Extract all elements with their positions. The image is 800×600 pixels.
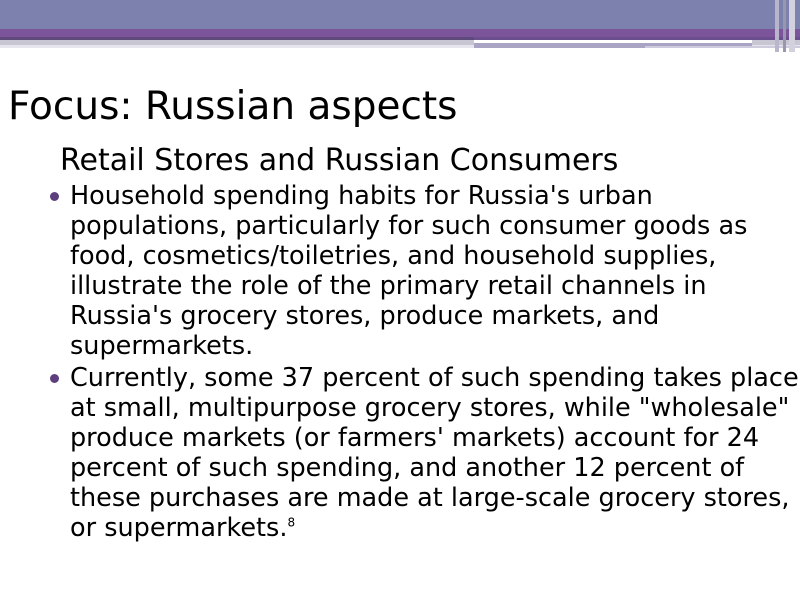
header-vertical-stripe-middle [783, 0, 786, 52]
header-band-purple [0, 29, 800, 37]
slide-subheading: Retail Stores and Russian Consumers [60, 143, 800, 179]
slide-body: Retail Stores and Russian Consumers Hous… [44, 143, 800, 545]
header-decoration [0, 0, 800, 58]
bullet-item: Currently, some 37 percent of such spend… [44, 363, 800, 543]
bullet-list: Household spending habits for Russia's u… [44, 181, 800, 543]
bullet-dot-icon [50, 192, 59, 201]
bullet-text: Household spending habits for Russia's u… [70, 181, 747, 361]
bullet-text: Currently, some 37 percent of such spend… [70, 363, 799, 543]
presentation-slide: Focus: Russian aspects Retail Stores and… [0, 0, 800, 600]
header-band-top [0, 0, 800, 29]
bullet-item: Household spending habits for Russia's u… [44, 181, 800, 361]
footnote-marker: 8 [287, 516, 295, 530]
header-vertical-stripe-outer [775, 0, 779, 52]
bullet-dot-icon [50, 374, 59, 383]
header-vertical-stripe-inner [789, 0, 795, 52]
slide-title: Focus: Russian aspects [8, 84, 778, 130]
